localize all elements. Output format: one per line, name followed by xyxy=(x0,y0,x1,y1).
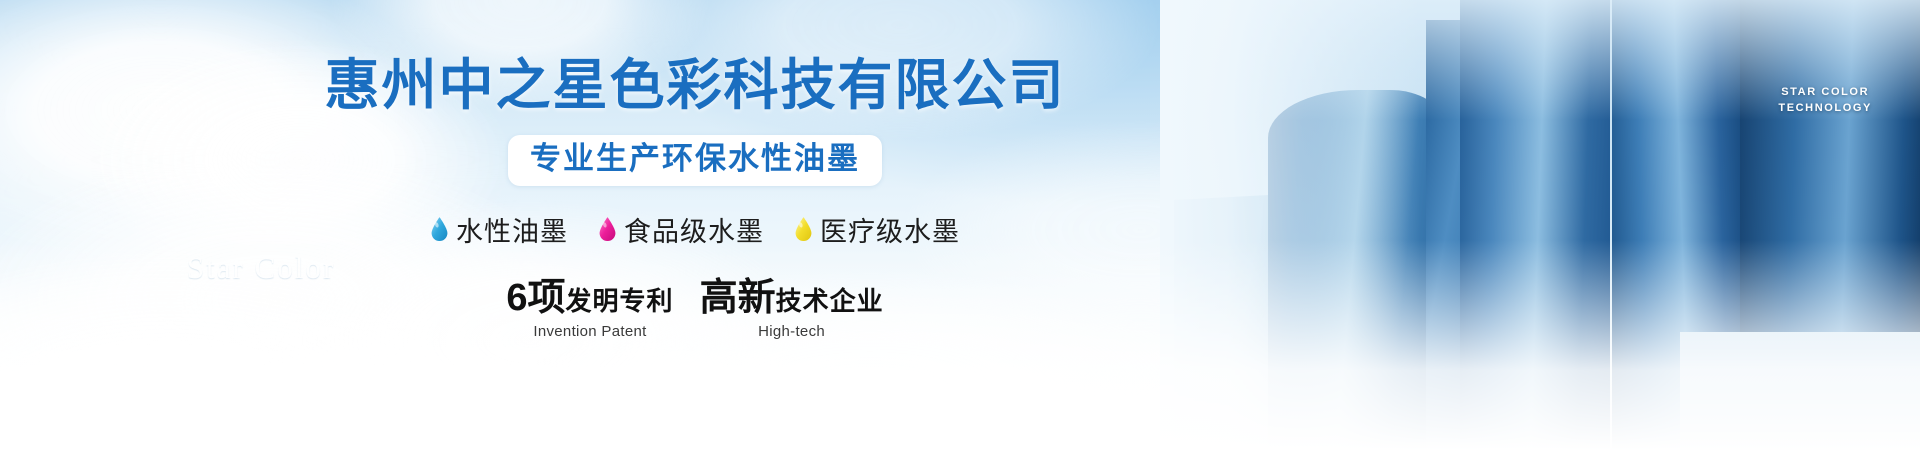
logo-line-2: TECHNOLOGY xyxy=(1778,100,1872,116)
water-drop-icon xyxy=(598,216,617,242)
badge-title: 发明专利 xyxy=(566,286,674,316)
water-drop-icon xyxy=(430,216,449,242)
feature-item-food-grade-ink: 食品级水墨 xyxy=(598,210,764,249)
badge-main-line: 高新技术企业 xyxy=(700,279,884,319)
feature-item-water-based-ink: 水性油墨 xyxy=(430,210,568,249)
subtitle-pill: 专业生产环保水性油墨 xyxy=(508,135,882,186)
feature-item-medical-grade-ink: 医疗级水墨 xyxy=(794,210,960,249)
company-headline: 惠州中之星色彩科技有限公司 xyxy=(324,58,1065,113)
water-drop-icon xyxy=(794,216,813,242)
badge-invention-patent: 6项发明专利 Invention Patent xyxy=(506,279,673,340)
badge-english-caption: High-tech xyxy=(700,323,884,340)
subtitle-text: 专业生产环保水性油墨 xyxy=(530,142,860,177)
badge-english-caption: Invention Patent xyxy=(506,323,673,340)
badge-title: 技术企业 xyxy=(776,286,884,316)
banner-content: 惠州中之星色彩科技有限公司 专业生产环保水性油墨 水性油墨 xyxy=(0,0,1390,450)
feature-label: 水性油墨 xyxy=(456,210,568,249)
badge-count: 高新 xyxy=(700,277,776,319)
feature-label: 食品级水墨 xyxy=(624,210,764,249)
badge-main-line: 6项发明专利 xyxy=(506,279,673,319)
credential-badges: 6项发明专利 Invention Patent 高新技术企业 High-tech xyxy=(506,279,883,340)
badge-count: 6项 xyxy=(506,277,565,319)
feature-label: 医疗级水墨 xyxy=(820,210,960,249)
logo-line-1: STAR COLOR xyxy=(1778,84,1872,100)
star-color-technology-logo: STAR COLOR TECHNOLOGY xyxy=(1778,84,1872,116)
feature-list: 水性油墨 食品级水墨 xyxy=(430,210,960,249)
promo-banner: STAR COLOR TECHNOLOGY Star Color 惠州中之星色彩… xyxy=(0,0,1920,450)
badge-high-tech-enterprise: 高新技术企业 High-tech xyxy=(700,279,884,340)
